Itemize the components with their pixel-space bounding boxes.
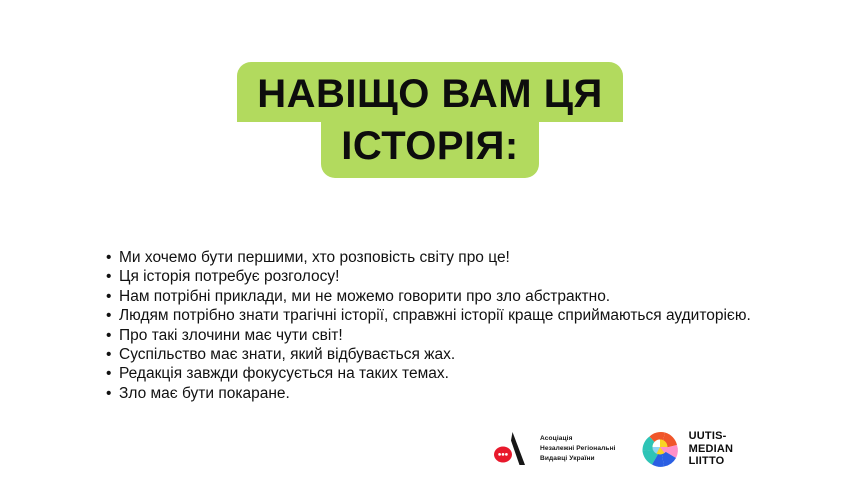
bullet-marker-icon: • [106,248,119,267]
list-item: • Редакція завжди фокусується на таких т… [106,364,796,383]
list-item-text: Зло має бути покаране. [119,384,796,403]
logo-airpu-line-3: Видавці України [540,455,595,462]
page-title: НАВІЩО ВАМ ЦЯ ІСТОРІЯ: [0,62,860,178]
bullet-marker-icon: • [106,306,119,325]
list-item-text: Ми хочемо бути першими, хто розповість с… [119,248,796,267]
bullet-marker-icon: • [106,384,119,403]
list-item: • Нам потрібні приклади, ми не можемо го… [106,287,796,306]
title-line-1: НАВІЩО ВАМ ЦЯ [0,62,860,122]
list-item: • Зло має бути покаране. [106,384,796,403]
logo-airpu-line-1: Асоціація [540,435,573,442]
bullet-marker-icon: • [106,326,119,345]
list-item-text: Людям потрібно знати трагічні історії, с… [119,306,796,325]
logo-airpu: Асоціація Незалежні Регіональні Видавці … [492,429,616,469]
bullet-marker-icon: • [106,267,119,286]
bullet-list: • Ми хочемо бути першими, хто розповість… [106,248,796,403]
title-line-2-text: ІСТОРІЯ: [321,120,538,178]
speech-bubble-a-logo-icon [492,429,532,469]
footer-logos: Асоціація Незалежні Регіональні Видавці … [492,428,733,470]
list-item: • Ми хочемо бути першими, хто розповість… [106,248,796,267]
list-item-text: Ця історія потребує розголосу! [119,267,796,286]
logo-uml-line-2: MEDIAN [689,443,734,455]
logo-uutismedian-liitto-text: UUTIS- MEDIAN LIITTO [689,430,734,468]
list-item-text: Нам потрібні приклади, ми не можемо гово… [119,287,796,306]
bullet-marker-icon: • [106,287,119,306]
bullet-marker-icon: • [106,364,119,383]
logo-uml-line-1: UUTIS- [689,430,727,442]
list-item: • Людям потрібно знати трагічні історії,… [106,306,796,325]
list-item: • Про такі злочини має чути світ! [106,326,796,345]
list-item-text: Про такі злочини має чути світ! [119,326,796,345]
list-item-text: Суспільство має знати, який відбувається… [119,345,796,364]
list-item-text: Редакція завжди фокусується на таких тем… [119,364,796,383]
title-line-2: ІСТОРІЯ: [0,120,860,178]
logo-airpu-line-2: Незалежні Регіональні [540,445,616,452]
bullet-marker-icon: • [106,345,119,364]
uutismedian-liitto-circle-icon [640,428,682,470]
logo-uutismedian-liitto: UUTIS- MEDIAN LIITTO [640,428,734,470]
logo-uml-line-3: LIITTO [689,455,725,467]
list-item: • Ця історія потребує розголосу! [106,267,796,286]
list-item: • Суспільство має знати, який відбуваєть… [106,345,796,364]
slide-canvas: НАВІЩО ВАМ ЦЯ ІСТОРІЯ: • Ми хочемо бути … [0,0,860,500]
logo-airpu-text: Асоціація Незалежні Регіональні Видавці … [540,434,616,465]
title-line-1-text: НАВІЩО ВАМ ЦЯ [237,62,622,122]
